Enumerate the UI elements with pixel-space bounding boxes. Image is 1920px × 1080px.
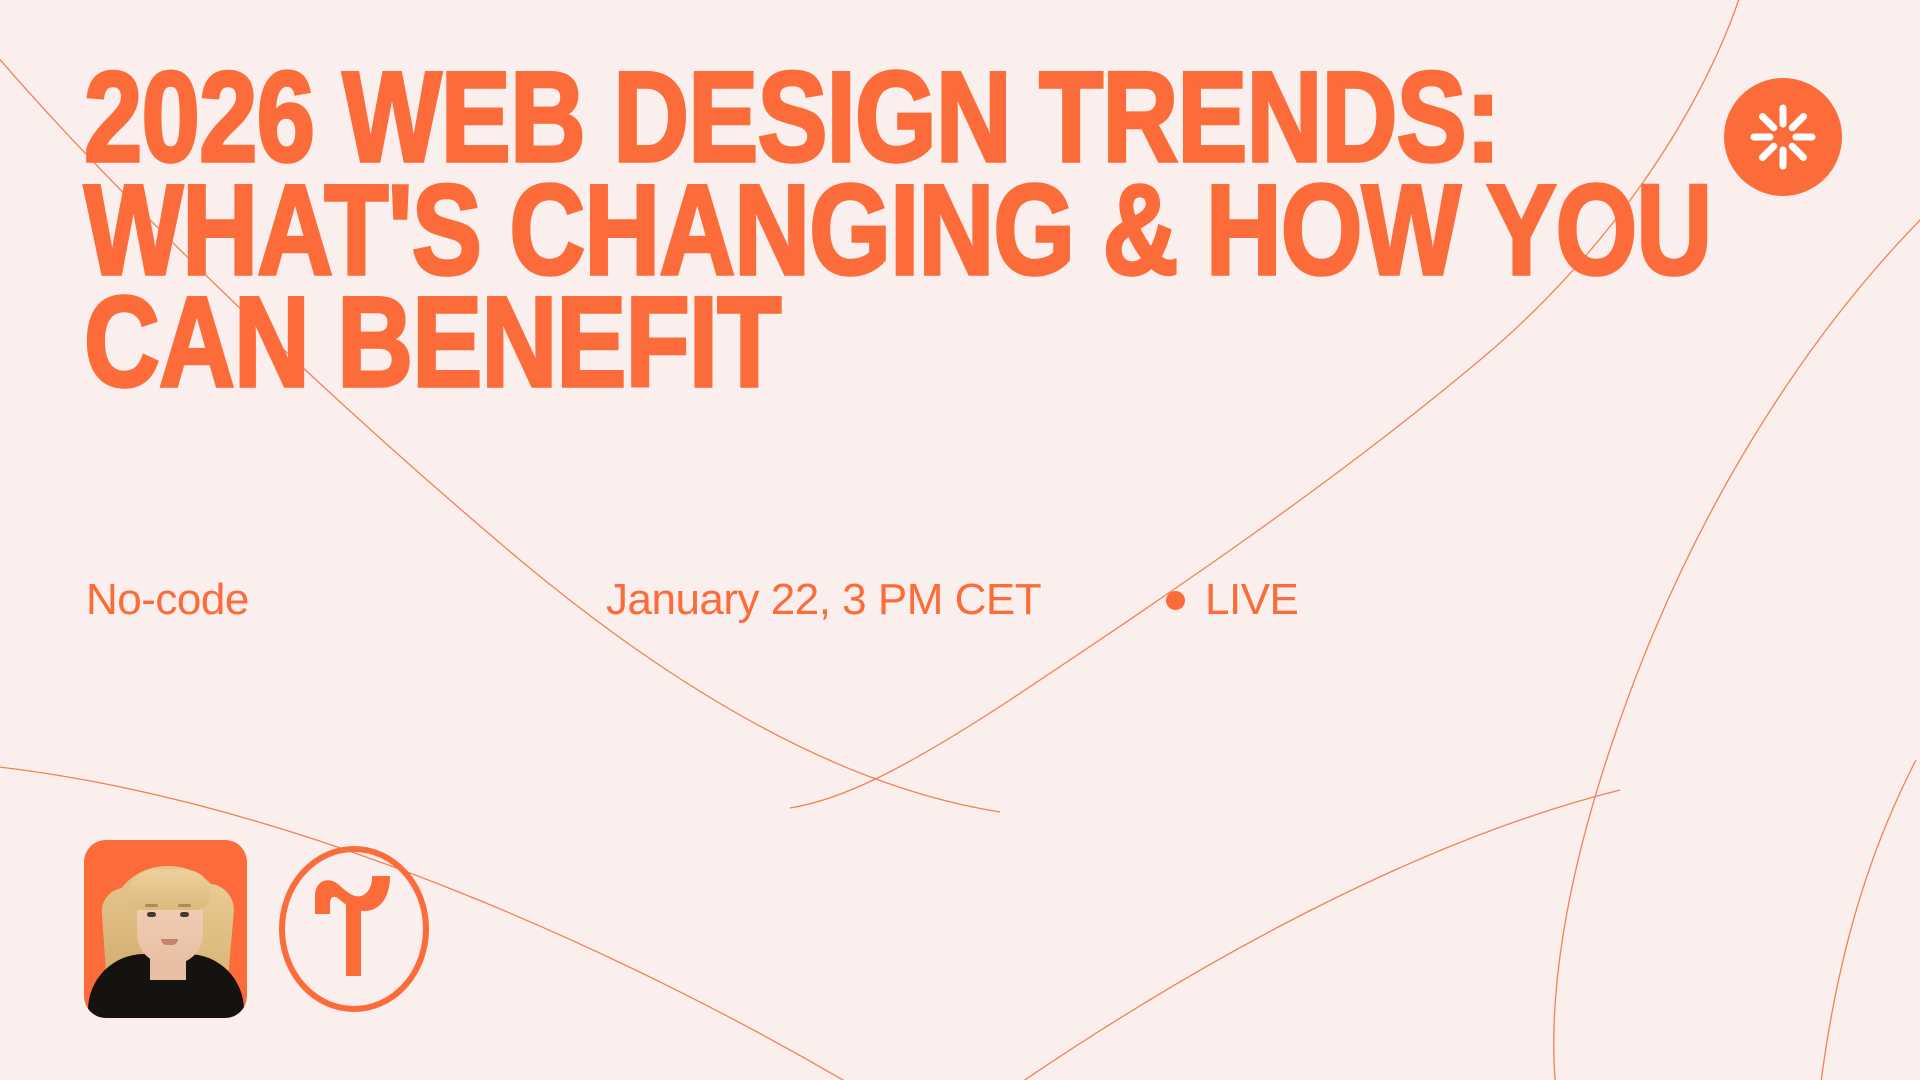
page-title: 2026 WEB DESIGN TRENDS: WHAT'S CHANGING … [84,62,1804,400]
topic-label: No-code [86,575,249,624]
curve-bottom-right [1010,790,1620,1080]
live-dot-icon [1166,591,1185,610]
meta-topic: No-code [86,578,606,622]
tilda-stem [346,904,361,976]
avatar-brow-right [178,904,191,907]
meta-date: January 22, 3 PM CET [606,578,1166,622]
avatar-fringe [129,870,211,910]
curve-far-right [1820,760,1916,1080]
headline-line-3: CAN BENEFIT [84,287,1494,400]
date-label: January 22, 3 PM CET [606,575,1041,624]
avatar-brow-left [145,904,158,907]
live-badge: LIVE [1166,578,1298,622]
live-label: LIVE [1205,578,1298,622]
avatar-eye-left [147,912,156,917]
brand-row [84,840,435,1018]
event-meta-row: No-code January 22, 3 PM CET LIVE [86,578,1566,622]
speaker-avatar [84,840,247,1018]
badge-circle [1724,78,1842,196]
avatar-eye-right [180,912,189,917]
asterisk-badge [1724,78,1842,196]
tilda-logo [273,840,435,1018]
